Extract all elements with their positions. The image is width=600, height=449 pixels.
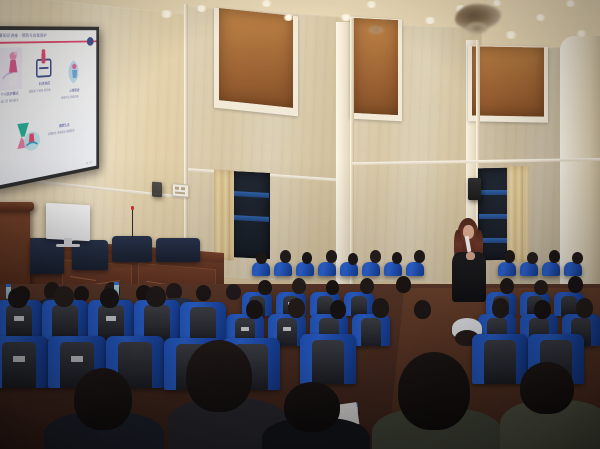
auditorium-seat-cushion xyxy=(98,305,124,340)
downlight xyxy=(283,14,294,21)
seat-tag xyxy=(106,316,116,321)
attendee-head xyxy=(326,280,339,295)
attendee-head xyxy=(520,362,574,414)
slide-title: 健康知识讲座 · 预防与自我保护 xyxy=(0,33,47,39)
slide-illustration-2 xyxy=(34,48,54,79)
curtain-left xyxy=(214,169,234,260)
attendee-head xyxy=(280,250,291,263)
lecture-hall-photo: 健康知识讲座 · 预防与自我保护 个人防护要点 勤洗手 戴口罩 保持距离 xyxy=(0,0,600,449)
attendee-head xyxy=(392,252,402,264)
downlight xyxy=(196,5,207,12)
attendee-head xyxy=(8,288,28,308)
attendee-head xyxy=(146,286,166,307)
attendee-head xyxy=(500,278,514,294)
seat-tag xyxy=(71,356,83,362)
downlight xyxy=(565,0,576,7)
auditorium-seat xyxy=(274,262,292,276)
conference-chair xyxy=(156,238,200,262)
attendee-head xyxy=(256,252,267,264)
slide-body-1: 勤洗手 戴口罩 保持距离 xyxy=(0,98,21,105)
auditorium-seat-cushion xyxy=(361,318,381,346)
attendee-head xyxy=(576,298,593,318)
downlight xyxy=(160,10,173,18)
downlight xyxy=(505,31,517,39)
slide-page-number: 01 / 24 xyxy=(86,160,92,165)
auditorium-seat xyxy=(564,262,582,276)
attendee-head xyxy=(100,288,119,308)
attendee-head xyxy=(534,300,551,319)
auditorium-seat xyxy=(520,262,538,276)
slide-body-2: 遵医嘱 不滥用 按剂量 xyxy=(29,87,55,93)
auditorium-seat xyxy=(362,262,380,276)
lectern-top xyxy=(0,202,34,211)
attendee-head xyxy=(258,280,272,295)
attendee-head xyxy=(326,250,337,263)
auditorium-seat-cushion xyxy=(190,307,216,342)
slide-illustration-3 xyxy=(65,58,82,86)
attendee-head xyxy=(568,276,583,293)
attendee-head xyxy=(549,250,560,263)
presenter-hand xyxy=(466,252,475,260)
downlight xyxy=(261,0,272,7)
attendee-head xyxy=(54,286,74,307)
downlight xyxy=(576,30,587,37)
attendee-head xyxy=(414,300,431,319)
wall-recess-3 xyxy=(472,46,544,116)
attendee-head xyxy=(74,368,132,430)
auditorium-seat-cushion xyxy=(277,318,297,346)
auditorium-seat-cushion xyxy=(312,340,344,384)
curtain-right xyxy=(507,166,529,262)
control-panel-switch[interactable] xyxy=(175,187,179,190)
attendee-head xyxy=(492,298,509,318)
seat-tag xyxy=(14,316,24,321)
attendee-head xyxy=(360,278,374,294)
attendee-head xyxy=(370,250,381,263)
downlight xyxy=(424,17,436,24)
downlight xyxy=(340,14,352,21)
wall-control-panel[interactable] xyxy=(172,183,189,197)
control-panel-switch[interactable] xyxy=(181,187,185,190)
attendee-head xyxy=(284,382,340,432)
desk-microphone-tip xyxy=(131,206,134,210)
auditorium-seat-cushion xyxy=(484,340,516,384)
auditorium-seat xyxy=(252,262,270,276)
attendee-head xyxy=(534,280,548,295)
monitor-base xyxy=(56,244,80,247)
presenter xyxy=(448,218,492,300)
auditorium-seat xyxy=(406,262,424,276)
auditorium-seat-cushion xyxy=(52,305,78,340)
slide-illustration-4 xyxy=(14,119,43,155)
ceiling-stain-small xyxy=(368,26,384,34)
auditorium-seat-cushion xyxy=(144,305,170,340)
auditorium-seat-cushion xyxy=(351,296,367,316)
wall-speaker-icon xyxy=(468,178,481,200)
attendee-head xyxy=(396,276,411,293)
downlight xyxy=(492,0,502,6)
water-bottle-cap xyxy=(114,282,119,285)
attendee-head xyxy=(414,250,425,263)
auditorium-seat xyxy=(384,262,402,276)
attendee-head xyxy=(302,252,312,264)
seat-tag xyxy=(13,356,25,362)
attendee-head xyxy=(246,300,263,319)
desk-microphone xyxy=(132,210,133,240)
seat-tag xyxy=(241,327,249,331)
projector-screen[interactable]: 健康知识讲座 · 预防与自我保护 个人防护要点 勤洗手 戴口罩 保持距离 xyxy=(0,26,99,192)
attendee-head xyxy=(527,252,538,264)
auditorium-seat-cushion xyxy=(6,305,32,340)
attendee-head xyxy=(330,300,346,319)
attendee-head xyxy=(372,298,389,318)
ceiling-stain-secondary xyxy=(466,22,488,34)
slide-illustration-1 xyxy=(0,47,22,91)
wall-speaker-icon xyxy=(152,182,162,198)
attendee-head xyxy=(186,340,252,412)
attendee-head xyxy=(292,278,306,294)
attendee-head xyxy=(196,285,211,301)
attendee-head xyxy=(348,253,358,265)
auditorium-seat xyxy=(318,262,336,276)
auditorium-seat-cushion xyxy=(2,342,36,388)
slide-logo-icon xyxy=(87,37,94,46)
attendee-head xyxy=(226,284,241,300)
confidence-monitor xyxy=(46,203,90,241)
attendee-head xyxy=(398,352,470,430)
attendee-head xyxy=(288,298,305,318)
water-bottle-cap xyxy=(6,284,11,287)
slide-body-3: 规律作息 积极沟通 xyxy=(61,94,85,100)
auditorium-seat xyxy=(498,262,516,276)
attendee-head xyxy=(504,250,515,263)
projector-screen-surface: 健康知识讲座 · 预防与自我保护 个人防护要点 勤洗手 戴口罩 保持距离 xyxy=(0,30,96,187)
wall-seam-vertical-2 xyxy=(350,18,354,284)
seat-tag xyxy=(283,327,291,331)
downlight xyxy=(366,1,377,8)
downlight xyxy=(535,14,546,21)
auditorium-seat xyxy=(542,262,560,276)
control-panel-strip xyxy=(175,192,185,194)
slide-caption-1: 个人防护要点 xyxy=(0,91,26,99)
attendee-head xyxy=(572,252,583,264)
wall-recess-1 xyxy=(219,8,293,108)
slide-accent-rule xyxy=(0,40,96,43)
auditorium-seat-cushion xyxy=(561,296,577,316)
auditorium-seat xyxy=(296,262,314,276)
